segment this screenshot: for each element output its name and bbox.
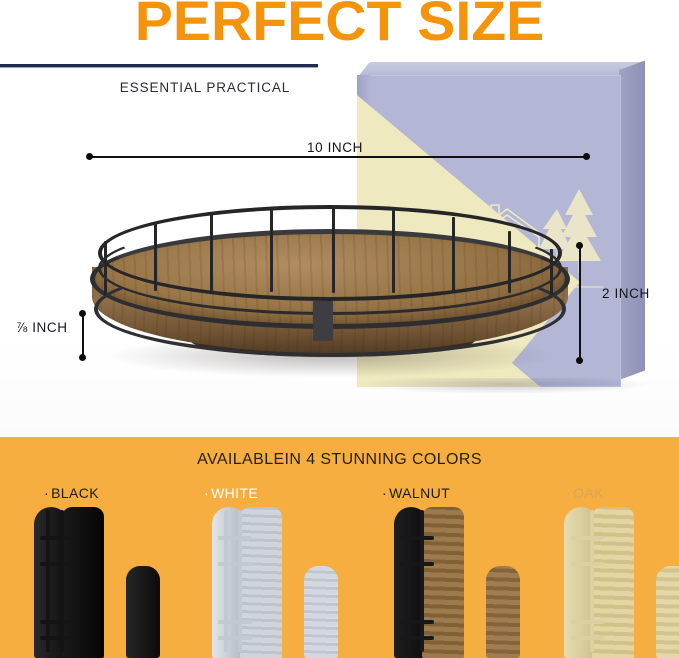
rail-baluster [46, 510, 50, 652]
rail-crossbar [218, 636, 252, 640]
thickness-dimension-endpoint-top [79, 310, 86, 317]
bullet-icon: · [44, 485, 49, 501]
color-swatch-black [10, 507, 180, 658]
tray-edge-small [126, 566, 160, 658]
rail-crossbar [40, 562, 74, 566]
width-dimension-endpoint-right [583, 153, 590, 160]
rail-crossbar [570, 536, 604, 540]
page-title: PERFECT SIZE [0, 0, 679, 53]
tray-metal-tab [313, 301, 333, 341]
height-dimension-endpoint-bottom [576, 357, 583, 364]
rail-crossbar [218, 562, 252, 566]
rail-crossbar [400, 636, 434, 640]
color-label-oak: ·OAK [566, 485, 604, 501]
rail-crossbar [218, 620, 252, 624]
color-label-white: ·WHITE [204, 485, 258, 501]
color-swatch-oak [540, 507, 679, 658]
rail-crossbar [400, 620, 434, 624]
color-name: BLACK [51, 485, 99, 501]
rail-baluster [238, 510, 242, 652]
rail-crossbar [570, 636, 604, 640]
bullet-icon: · [566, 485, 571, 501]
rail-baluster [420, 510, 424, 652]
rail-baluster [406, 510, 410, 652]
thickness-dimension-endpoint-bottom [79, 354, 86, 361]
rail-baluster [576, 510, 580, 652]
width-dimension-endpoint-left [86, 153, 93, 160]
bullet-icon: · [382, 485, 387, 501]
height-dimension-label: 2 INCH [602, 286, 650, 301]
rail-baluster [224, 510, 228, 652]
page-subtitle: ESSENTIAL PRACTICAL [0, 80, 410, 95]
color-label-black: ·BLACK [44, 485, 99, 501]
width-dimension-label: 10 INCH [307, 140, 363, 155]
width-dimension-line [90, 156, 586, 158]
rail-crossbar [570, 562, 604, 566]
bullet-icon: · [204, 485, 209, 501]
rail-baluster [60, 510, 64, 652]
color-label-walnut: ·WALNUT [382, 485, 450, 501]
rail-crossbar [40, 636, 74, 640]
rail-crossbar [400, 562, 434, 566]
height-dimension-endpoint-top [576, 242, 583, 249]
header-divider [0, 64, 318, 68]
rail-crossbar [40, 620, 74, 624]
color-swatch-walnut [370, 507, 540, 658]
box-side-face [619, 61, 645, 380]
thickness-dimension-label: ⅞ INCH [16, 320, 68, 335]
rail-crossbar [570, 620, 604, 624]
color-swatch-white [188, 507, 358, 658]
height-dimension-line [579, 245, 581, 361]
tray-edge-small [486, 566, 520, 658]
tray-edge-small [656, 566, 679, 658]
color-name: OAK [573, 485, 604, 501]
size-info-panel: PERFECT SIZE ESSENTIAL PRACTICAL [0, 0, 679, 437]
color-name: WALNUT [389, 485, 450, 501]
rail-crossbar [40, 536, 74, 540]
available-colors-panel: AVAILABLEIN 4 STUNNING COLORS ·BLACK ·WH… [0, 437, 679, 658]
color-name: WHITE [211, 485, 258, 501]
thickness-dimension-line [82, 313, 84, 357]
rail-crossbar [400, 536, 434, 540]
colors-section-heading: AVAILABLEIN 4 STUNNING COLORS [0, 451, 679, 469]
rail-crossbar [218, 536, 252, 540]
product-tray-image [70, 205, 590, 390]
tray-edge-small [304, 566, 338, 658]
rail-baluster [590, 510, 594, 652]
